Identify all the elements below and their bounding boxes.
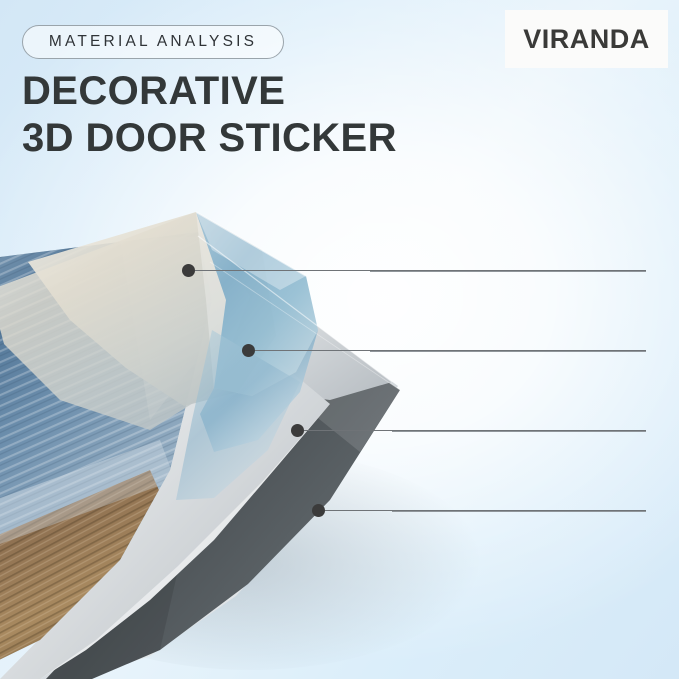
callout-underline [370,351,646,352]
callout-dot-icon [242,344,255,357]
callout-dot-icon [312,504,325,517]
badge-label: MATERIAL ANALYSIS [49,33,257,51]
poster-canvas: MATERIAL ANALYSIS DECORATIVE 3D DOOR STI… [0,0,679,679]
page-title: DECORATIVE 3D DOOR STICKER [22,68,492,162]
brand-name: VIRANDA [523,24,650,55]
material-analysis-badge: MATERIAL ANALYSIS [22,25,284,59]
callout-underline [392,511,646,512]
title-line-2: 3D DOOR STICKER [22,115,492,162]
callout-dot-icon [291,424,304,437]
callout-dot-icon [182,264,195,277]
title-line-1: DECORATIVE [22,68,492,115]
callout-underline [392,431,646,432]
callout-underline [370,271,646,272]
brand-logo: VIRANDA [505,10,668,68]
